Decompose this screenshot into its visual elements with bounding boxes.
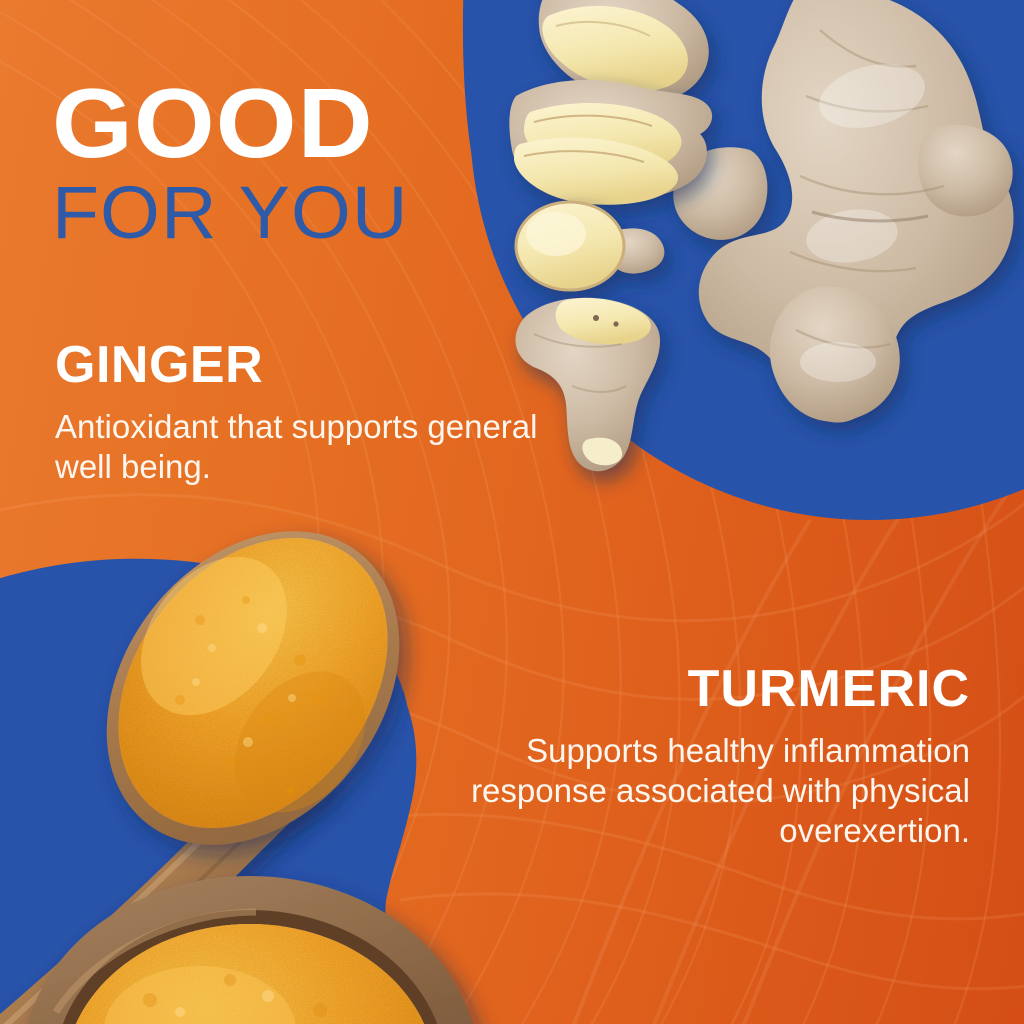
ginger-title: GINGER <box>55 338 575 393</box>
turmeric-description: Supports healthy inflammation response a… <box>440 731 970 852</box>
headline: GOOD FOR YOU <box>52 78 612 251</box>
headline-line-good: GOOD <box>52 78 646 169</box>
good-for-you-poster: GOOD FOR YOU GINGER Antioxidant that sup… <box>0 0 1024 1024</box>
turmeric-title: TURMERIC <box>440 662 970 717</box>
ginger-description: Antioxidant that supports general well b… <box>55 407 575 488</box>
ginger-section: GINGER Antioxidant that supports general… <box>55 338 575 487</box>
headline-line-for-you: FOR YOU <box>52 175 634 250</box>
turmeric-section: TURMERIC Supports healthy inflammation r… <box>440 662 970 851</box>
